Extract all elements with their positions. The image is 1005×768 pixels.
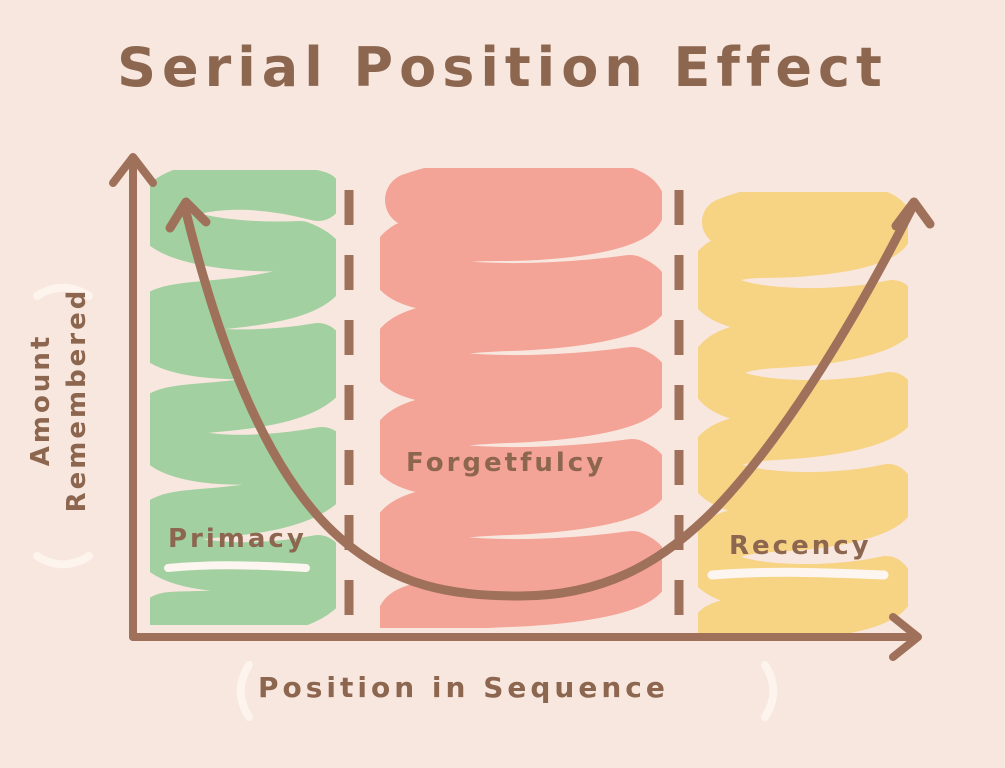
underline-primacy	[168, 565, 306, 568]
y-axis-label-group: Amount Remembered	[23, 275, 99, 525]
y-label-bracket-bottom	[37, 556, 89, 564]
underline-recency	[712, 572, 884, 575]
region-label-recency: Recency	[729, 531, 872, 561]
x-label-bracket-right	[765, 665, 773, 717]
page-title: Serial Position Effect	[0, 36, 1005, 99]
region-scribble-primacy	[152, 185, 330, 622]
x-axis-label: Position in Sequence	[258, 671, 669, 704]
region-label-forgetfulcy: Forgetfulcy	[406, 448, 606, 478]
y-axis-label: Amount Remembered	[23, 275, 95, 525]
region-scribble-forgetfulcy	[397, 181, 643, 622]
x-label-bracket-left	[241, 665, 249, 717]
region-label-primacy: Primacy	[168, 524, 307, 554]
poster-canvas: Serial Position Effect Primacy Forgetful…	[0, 0, 1005, 768]
chart-artwork	[0, 0, 1005, 768]
